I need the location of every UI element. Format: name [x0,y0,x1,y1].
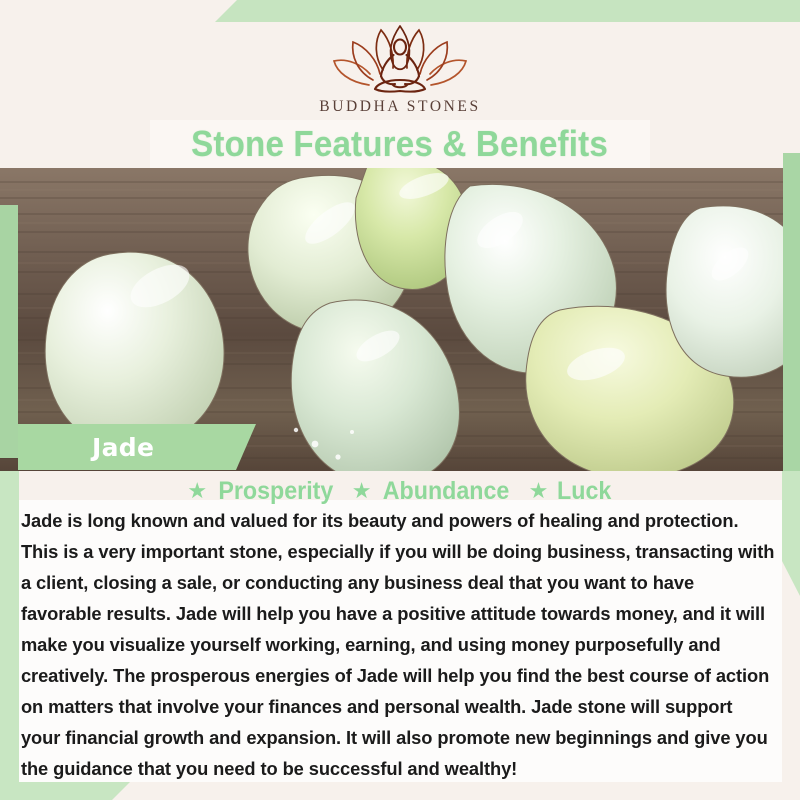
benefit-label: Abundance [383,477,510,506]
left-accent-bar [0,471,19,800]
lotus-meditation-icon [325,22,475,94]
brand-name: BUDDHA STONES [319,98,480,116]
description-text: Jade is long known and valued for its be… [19,505,777,784]
stone-name-banner: Jade [18,424,256,470]
right-photo-accent-bar [783,153,800,480]
star-icon: ★ [529,480,549,502]
brand-logo: BUDDHA STONES [0,22,800,116]
benefit-label: Luck [557,477,611,506]
infographic-page: BUDDHA STONES Stone Features & Benefits [0,0,800,800]
star-icon: ★ [352,480,372,502]
benefit-item-prosperity: ★ Prosperity [187,477,337,506]
page-title: Stone Features & Benefits [192,123,609,165]
stone-name: Jade [18,433,154,462]
star-icon: ★ [187,480,207,502]
benefit-item-luck: ★ Luck [529,477,614,506]
benefits-row: ★ Prosperity ★ Abundance ★ Luck [19,478,782,504]
bottom-left-accent-tab [0,782,130,800]
benefit-label: Prosperity [218,477,333,506]
title-strip: Stone Features & Benefits [150,120,650,168]
left-photo-accent-bar [0,205,18,458]
benefit-item-abundance: ★ Abundance [352,477,515,506]
top-decor-band [215,0,800,22]
